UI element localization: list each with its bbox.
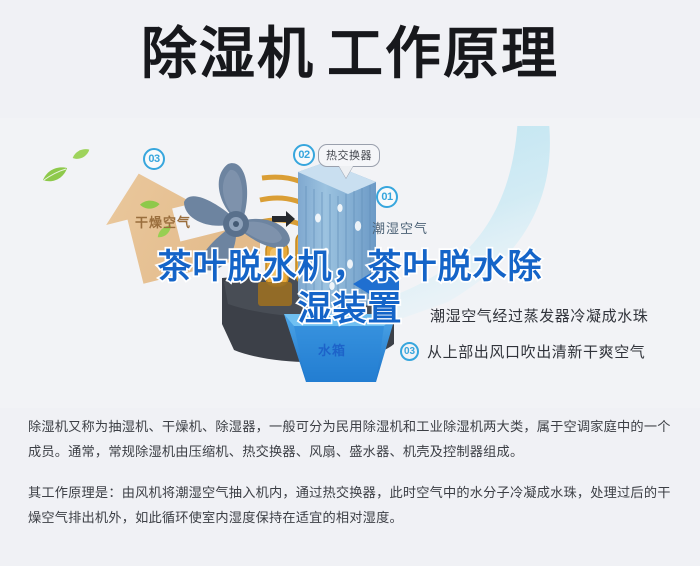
fan-blades-icon [178,158,298,288]
humid-air-inlet-arrow-icon [353,273,399,295]
page-title-part2: 工作原理 [327,22,559,86]
water-tank-label: 水箱 [318,340,346,359]
page-root: 除湿机工作原理 [0,0,700,566]
article-body: 除湿机又称为抽湿机、干燥机、除湿器，一般可分为民用除湿机和工业除湿机两大类，属于… [28,414,676,530]
body-paragraph-2: 其工作原理是：由风机将潮湿空气抽入机内，通过热交换器，此时空气中的水分子冷凝成水… [28,480,676,530]
caption-02-text: 潮湿空气经过蒸发器冷凝成水珠 [430,305,648,326]
dry-air-label: 干燥空气 [135,212,191,231]
body-paragraph-1: 除湿机又称为抽湿机、干燥机、除湿器，一般可分为民用除湿机和工业除湿机两大类，属于… [28,414,676,464]
evaporator-fins [296,160,382,320]
dehumidifier-diagram: 干燥空气 03 [0,118,700,408]
badge-03-dry-air: 03 [143,148,165,170]
caption-03-text: 从上部出风口吹出清新干爽空气 [427,341,645,362]
heat-exchanger-callout: 热交换器 [318,144,380,167]
badge-02-heat-exchanger: 02 [293,144,315,166]
page-title: 除湿机工作原理 [0,22,700,86]
leaf-icon [72,148,90,161]
humid-air-label: 潮湿空气 [372,218,428,237]
page-title-part1: 除湿机 [141,22,315,86]
leaf-icon [42,166,68,184]
caption-badge-03: 03 [400,342,419,361]
badge-01-humid-air: 01 [376,186,398,208]
